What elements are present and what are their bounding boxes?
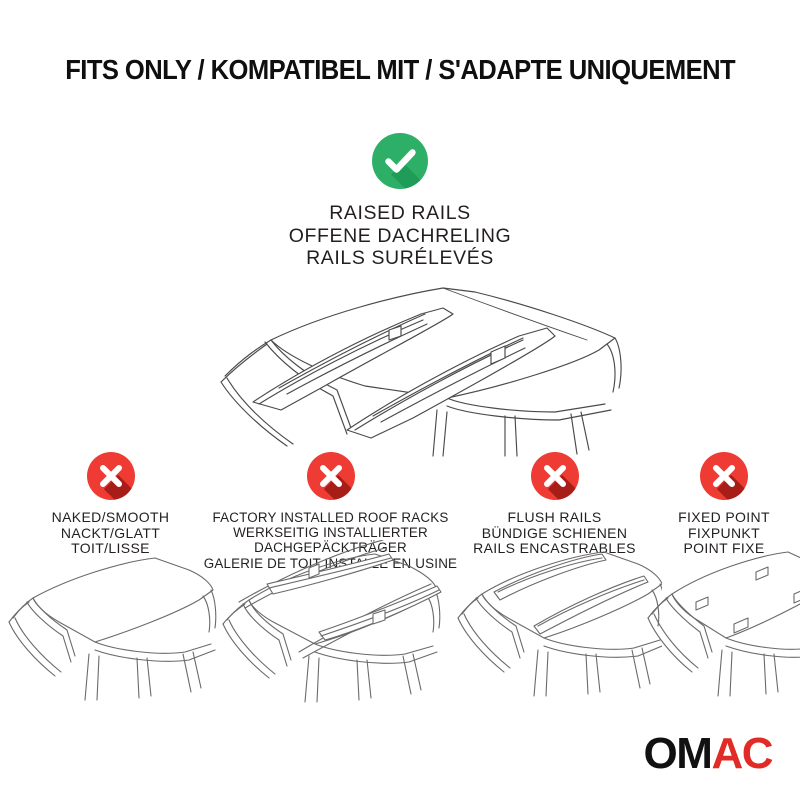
- option-label-en: FLUSH RAILS: [452, 510, 657, 526]
- option-factory-roof-racks: FACTORY INSTALLED ROOF RACKS WERKSEITIG …: [203, 452, 458, 571]
- omac-logo: OMAC: [644, 732, 772, 776]
- option-naked-smooth: NAKED/SMOOTH NACKT/GLATT TOIT/LISSE: [8, 452, 213, 557]
- option-fixed-point: FIXED POINT FIXPUNKT POINT FIXE: [648, 452, 800, 557]
- x-circle-icon: [700, 452, 748, 500]
- option-label-de-1: WERKSEITIG INSTALLIERTER: [203, 525, 458, 540]
- compatible-label-fr: RAILS SURÉLEVÉS: [0, 247, 800, 270]
- option-label-en: FACTORY INSTALLED ROOF RACKS: [203, 510, 458, 525]
- naked-roof-illustration: [3, 552, 218, 702]
- compatible-block: RAISED RAILS OFFENE DACHRELING RAILS SUR…: [0, 133, 800, 270]
- option-label-en: NAKED/SMOOTH: [8, 510, 213, 526]
- raised-rails-roof-illustration: [175, 278, 625, 458]
- compatible-labels: RAISED RAILS OFFENE DACHRELING RAILS SUR…: [0, 202, 800, 270]
- page-title-text: FITS ONLY / KOMPATIBEL MIT / S'ADAPTE UN…: [65, 54, 735, 86]
- page-title: FITS ONLY / KOMPATIBEL MIT / S'ADAPTE UN…: [0, 54, 800, 86]
- check-circle-icon: [372, 133, 428, 189]
- x-circle-icon: [307, 452, 355, 500]
- option-label-de: FIXPUNKT: [648, 526, 800, 542]
- x-circle-icon: [87, 452, 135, 500]
- fitment-infographic: FITS ONLY / KOMPATIBEL MIT / S'ADAPTE UN…: [0, 0, 800, 800]
- option-labels: NAKED/SMOOTH NACKT/GLATT TOIT/LISSE: [8, 510, 213, 557]
- fixed-point-illustration: [638, 544, 800, 699]
- compatible-label-en: RAISED RAILS: [0, 202, 800, 225]
- compatible-label-de: OFFENE DACHRELING: [0, 225, 800, 248]
- option-label-de: NACKT/GLATT: [8, 526, 213, 542]
- option-label-de: BÜNDIGE SCHIENEN: [452, 526, 657, 542]
- x-circle-icon: [531, 452, 579, 500]
- factory-roof-rack-illustration: [203, 540, 453, 705]
- option-flush-rails: FLUSH RAILS BÜNDIGE SCHIENEN RAILS ENCAS…: [452, 452, 657, 557]
- logo-text-dark: OM: [644, 729, 712, 778]
- logo-text-red: AC: [711, 729, 772, 778]
- flush-rails-illustration: [452, 544, 662, 699]
- option-label-en: FIXED POINT: [648, 510, 800, 526]
